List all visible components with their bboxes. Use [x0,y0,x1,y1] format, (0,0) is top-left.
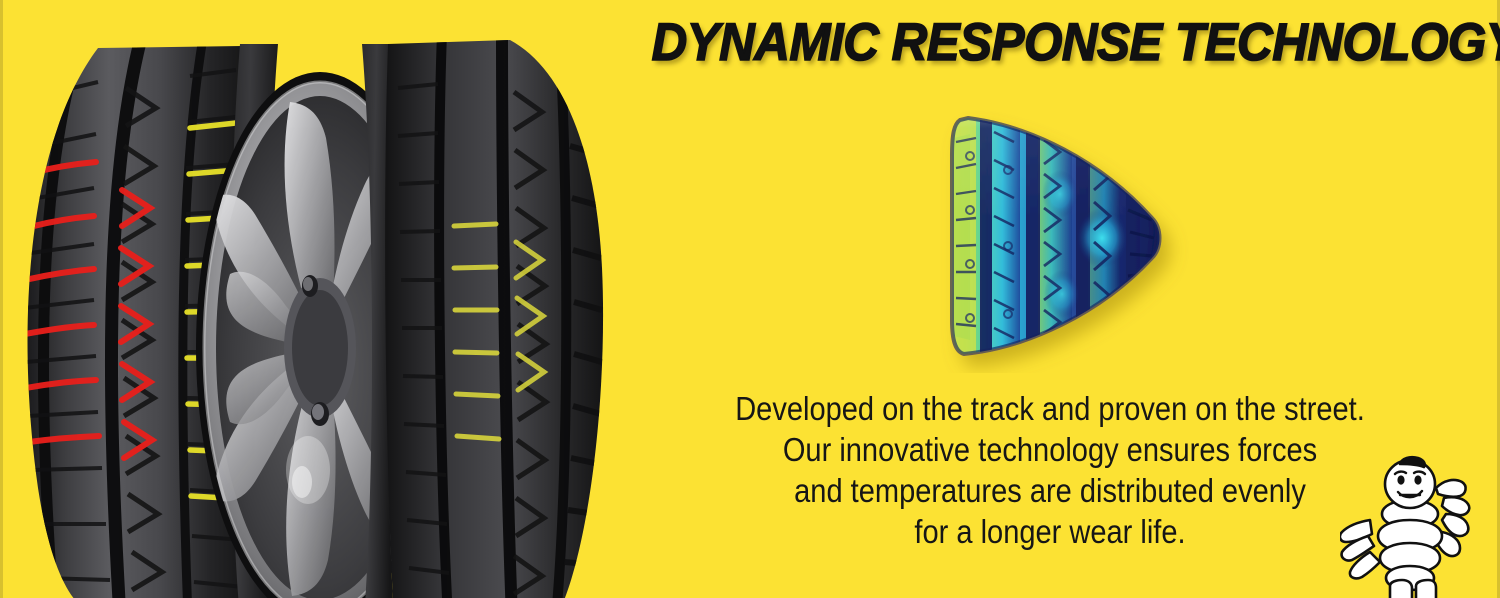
contact-patch-heatmap [930,98,1190,373]
page-title: DYNAMIC RESPONSE TECHNOLOGY [652,16,1470,69]
michelin-man-illustration [1340,452,1488,598]
body-copy-line-3: and temperatures are distributed evenly [689,470,1411,511]
tire-photo: MICHELIN [0,18,630,598]
tire-tread-right [385,30,603,598]
heatmap-illustration [930,98,1190,373]
body-copy: Developed on the track and proven on the… [689,388,1411,552]
michelin-man-mascot [1340,452,1488,598]
body-copy-line-1: Developed on the track and proven on the… [689,388,1411,429]
tire-illustration: MICHELIN [0,18,630,598]
body-copy-line-4: for a longer wear life. [689,511,1411,552]
body-copy-line-2: Our innovative technology ensures forces [689,429,1411,470]
dynamic-response-technology-banner: MICHELIN [0,0,1500,598]
